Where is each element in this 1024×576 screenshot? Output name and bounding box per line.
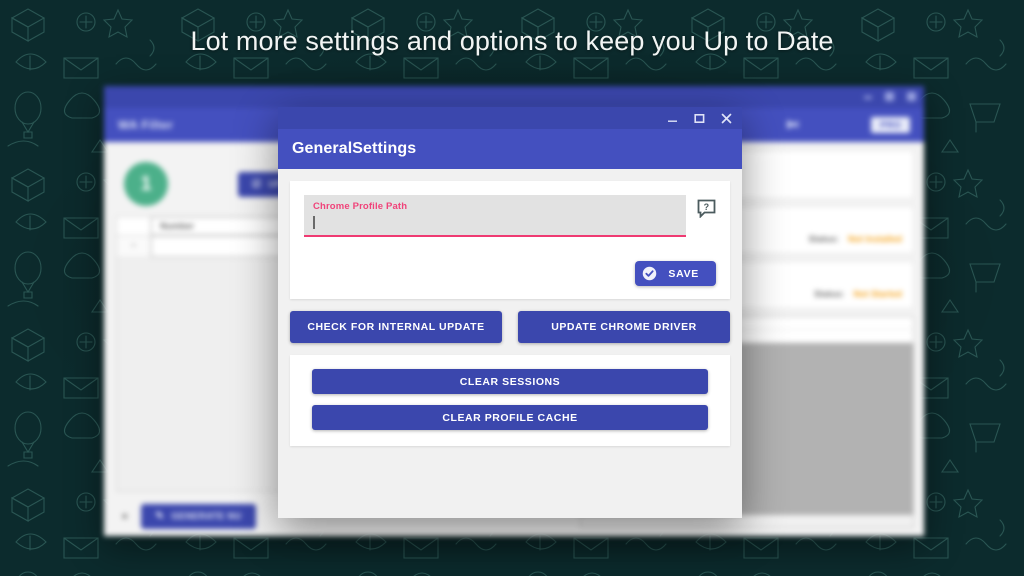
- status-label: Status:: [808, 234, 839, 244]
- upload-icon: ☑: [252, 179, 261, 190]
- status-value: Not Started: [853, 289, 902, 299]
- table-header-index: [117, 217, 151, 235]
- update-chrome-driver-button[interactable]: UPDATE CHROME DRIVER: [518, 311, 730, 343]
- app-title: WA Filter: [118, 118, 173, 132]
- general-settings-dialog[interactable]: GeneralSettings Chrome Profile Path: [278, 107, 742, 518]
- app-close-icon[interactable]: [907, 92, 916, 101]
- svg-text:?: ?: [704, 202, 710, 212]
- app-window-chrome: [104, 86, 924, 108]
- chrome-profile-path-label: Chrome Profile Path: [313, 201, 677, 212]
- dialog-window-controls[interactable]: [278, 107, 742, 129]
- clear-profile-cache-button[interactable]: CLEAR PROFILE CACHE: [312, 405, 708, 430]
- save-button-label: SAVE: [668, 268, 699, 280]
- clear-sessions-button[interactable]: CLEAR SESSIONS: [312, 369, 708, 394]
- text-caret: [313, 216, 315, 229]
- status-label: Status:: [814, 289, 845, 299]
- table-row-index: *: [117, 236, 151, 257]
- close-icon[interactable]: [720, 111, 732, 125]
- dialog-body: Chrome Profile Path ?: [278, 169, 742, 518]
- maximize-icon[interactable]: [693, 111, 705, 125]
- dialog-title: GeneralSettings: [292, 140, 416, 158]
- chrome-profile-path-value-line[interactable]: [313, 215, 677, 229]
- scissors-icon[interactable]: ✄: [786, 116, 799, 134]
- page-title: Lot more settings and options to keep yo…: [0, 26, 1024, 57]
- status-value: Not Installed: [848, 234, 902, 244]
- app-maximize-icon[interactable]: [885, 92, 894, 101]
- app-toolbar[interactable]: ✄ PRO: [786, 116, 910, 134]
- app-window-controls[interactable]: [864, 92, 916, 101]
- step-badge: 1: [124, 162, 168, 206]
- save-row: SAVE: [304, 261, 716, 286]
- minimize-icon[interactable]: [666, 111, 678, 125]
- row-marker-icon: ■: [122, 511, 127, 521]
- generate-button-label: GENERATE NU: [171, 511, 241, 521]
- app-badge: PRO: [871, 117, 910, 133]
- screenshot-stage: Lot more settings and options to keep yo…: [0, 0, 1024, 576]
- update-buttons-row: CHECK FOR INTERNAL UPDATE UPDATE CHROME …: [290, 311, 730, 343]
- save-button[interactable]: SAVE: [635, 261, 716, 286]
- generate-numbers-button[interactable]: ✎ GENERATE NU: [141, 504, 255, 529]
- profile-path-card: Chrome Profile Path ?: [290, 181, 730, 299]
- chrome-profile-path-input[interactable]: Chrome Profile Path: [304, 195, 686, 237]
- check-circle-icon: [642, 266, 657, 281]
- clear-actions-card: CLEAR SESSIONS CLEAR PROFILE CACHE: [290, 355, 730, 446]
- help-tooltip-icon[interactable]: ?: [697, 199, 716, 218]
- dialog-titlebar: GeneralSettings: [278, 129, 742, 169]
- generate-icon: ✎: [155, 511, 164, 522]
- app-minimize-icon[interactable]: [864, 96, 872, 99]
- profile-path-row: Chrome Profile Path ?: [304, 195, 716, 237]
- check-for-internal-update-button[interactable]: CHECK FOR INTERNAL UPDATE: [290, 311, 502, 343]
